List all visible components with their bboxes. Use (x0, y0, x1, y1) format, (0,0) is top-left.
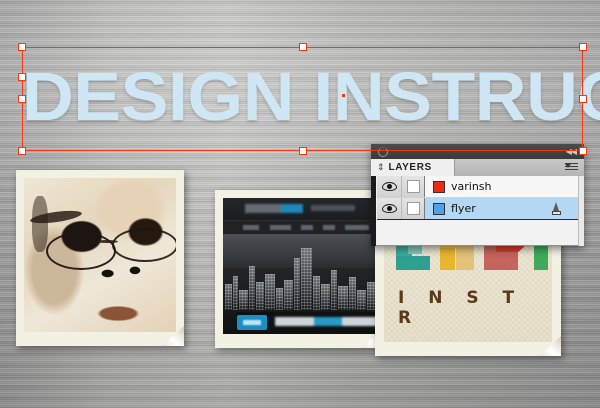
panel-menu-icon[interactable] (565, 163, 578, 172)
panel-title-bar[interactable]: ◀◀ (371, 144, 584, 160)
decor-stroke (32, 196, 48, 252)
lock-toggle-varinsh[interactable] (402, 176, 425, 197)
collapse-arrows-icon[interactable]: ◀◀ (566, 148, 576, 156)
website-screenshot-image (223, 198, 375, 334)
site-footer-text (275, 317, 375, 326)
tab-layers[interactable]: ⇕ LAYERS (371, 159, 455, 176)
site-badge (237, 315, 267, 330)
lock-checkbox-icon[interactable] (407, 180, 420, 193)
tab-layers-label: LAYERS (389, 162, 432, 173)
panel-tab-bar: ⇕ LAYERS (371, 159, 584, 177)
visibility-toggle-varinsh[interactable] (377, 176, 402, 197)
lock-checkbox-icon[interactable] (407, 202, 420, 215)
lock-toggle-flyer[interactable] (402, 198, 425, 219)
site-footer-bar (237, 312, 375, 334)
site-tagline (311, 205, 355, 211)
panel-left-gutter (371, 176, 376, 246)
pen-cursor-icon (552, 202, 561, 215)
eye-icon (382, 182, 397, 191)
site-hero-image (223, 234, 375, 334)
site-header-bar (223, 198, 375, 220)
headline-text[interactable]: DESIGN INSTRUCT (22, 56, 600, 136)
layer-name-flyer: flyer (451, 202, 476, 215)
screenshot-stage: DESIGN INSTRUCT (0, 0, 600, 408)
panel-body: varinsh flyer (371, 176, 584, 246)
glasses-left-rim (46, 232, 116, 270)
website-screenshot-card[interactable] (215, 190, 383, 348)
eye-icon (382, 204, 397, 213)
layer-name-varinsh: varinsh (451, 180, 492, 193)
visibility-toggle-flyer[interactable] (377, 198, 402, 219)
layer-row-varinsh[interactable]: varinsh (377, 176, 578, 198)
layer-color-swatch (433, 203, 445, 215)
poster-block (456, 248, 474, 270)
watercolor-portrait-card[interactable] (16, 170, 184, 346)
city-skyline (223, 246, 375, 310)
site-nav-bar (223, 220, 375, 235)
glasses-right-rim (112, 228, 176, 262)
panel-drag-circle-icon[interactable] (378, 147, 388, 157)
poster-design-image: I N S T R (384, 234, 552, 342)
layer-list: varinsh flyer (377, 176, 578, 220)
panel-right-gutter (578, 176, 584, 246)
move-grip-icon: ⇕ (377, 163, 385, 172)
poster-block (396, 256, 430, 270)
poster-word: I N S T R (398, 288, 552, 328)
layer-row-flyer[interactable]: flyer (377, 198, 578, 220)
glasses-bridge (96, 240, 118, 243)
layers-panel[interactable]: ◀◀ ⇕ LAYERS (371, 144, 584, 246)
layer-color-swatch (433, 181, 445, 193)
site-logo (245, 204, 303, 213)
watercolor-portrait-image (24, 178, 176, 332)
poster-design-card[interactable]: I N S T R (375, 234, 561, 356)
